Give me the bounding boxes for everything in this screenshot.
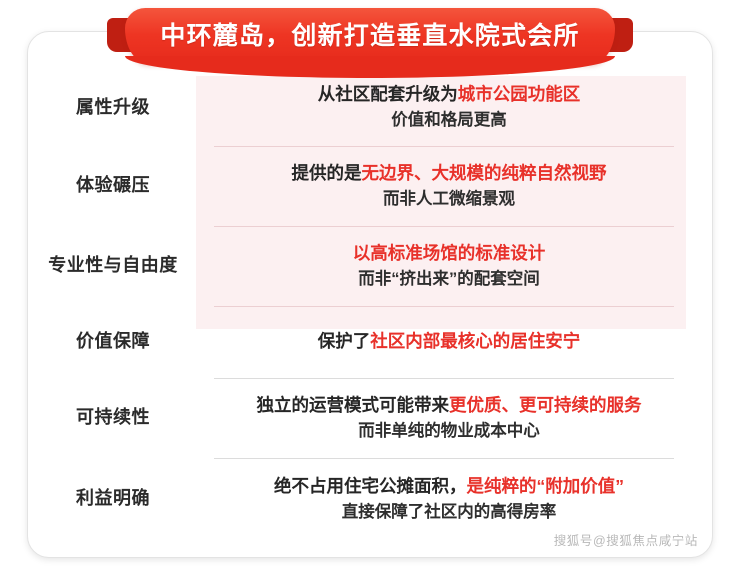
- line-text: 从社区配套升级为: [318, 84, 458, 104]
- row-content: 绝不占用住宅公摊面积，是纯粹的“附加价值”直接保障了社区内的高得房率: [199, 473, 711, 526]
- line-highlight: 更优质、更可持续的服务: [449, 395, 642, 415]
- line-text: 保护了: [318, 331, 371, 351]
- row-line-primary: 绝不占用住宅公摊面积，是纯粹的“附加价值”: [205, 473, 693, 500]
- poster-root: 属性升级从社区配套升级为城市公园功能区价值和格局更高体验碾压提供的是无边界、大规…: [0, 0, 740, 577]
- row-divider: [214, 378, 674, 379]
- line-highlight: 无边界、大规模的纯粹自然视野: [362, 163, 607, 183]
- ribbon-body: 中环麓岛，创新打造垂直水院式会所: [125, 8, 615, 64]
- content-card: 属性升级从社区配套升级为城市公园功能区价值和格局更高体验碾压提供的是无边界、大规…: [27, 31, 713, 558]
- comparison-table: 属性升级从社区配套升级为城市公园功能区价值和格局更高体验碾压提供的是无边界、大规…: [27, 31, 711, 556]
- row-line-secondary: 而非单纯的物业成本中心: [205, 419, 693, 445]
- table-row: 属性升级从社区配套升级为城市公园功能区价值和格局更高: [27, 69, 711, 146]
- row-content: 保护了社区内部最核心的居住安宁: [199, 328, 711, 355]
- table-row: 可持续性独立的运营模式可能带来更优质、更可持续的服务而非单纯的物业成本中心: [27, 378, 711, 458]
- row-divider: [214, 146, 674, 147]
- title-ribbon: 中环麓岛，创新打造垂直水院式会所: [0, 8, 740, 68]
- row-line-secondary: 而非“挤出来”的配套空间: [205, 267, 693, 293]
- row-line-secondary: 价值和格局更高: [205, 108, 693, 134]
- row-line-primary: 保护了社区内部最核心的居住安宁: [205, 328, 693, 355]
- watermark: 搜狐号@搜狐焦点咸宁站: [554, 530, 698, 549]
- row-line-secondary: 而非人工微缩景观: [205, 187, 693, 213]
- row-content: 提供的是无边界、大规模的纯粹自然视野而非人工微缩景观: [199, 160, 711, 213]
- row-content: 独立的运营模式可能带来更优质、更可持续的服务而非单纯的物业成本中心: [199, 392, 711, 445]
- line-text: 独立的运营模式可能带来: [257, 395, 450, 415]
- row-label: 价值保障: [27, 331, 199, 353]
- line-highlight: 以高标准场馆的标准设计: [353, 243, 546, 263]
- line-text: 提供的是: [292, 163, 362, 183]
- row-label: 体验碾压: [27, 175, 199, 197]
- row-line-primary: 从社区配套升级为城市公园功能区: [205, 81, 693, 108]
- table-row: 体验碾压提供的是无边界、大规模的纯粹自然视野而非人工微缩景观: [27, 146, 711, 226]
- row-content: 以高标准场馆的标准设计而非“挤出来”的配套空间: [199, 240, 711, 293]
- table-row: 价值保障保护了社区内部最核心的居住安宁: [27, 306, 711, 378]
- row-content: 从社区配套升级为城市公园功能区价值和格局更高: [199, 81, 711, 134]
- row-line-primary: 提供的是无边界、大规模的纯粹自然视野: [205, 160, 693, 187]
- line-highlight: 社区内部最核心的居住安宁: [370, 331, 580, 351]
- row-line-primary: 独立的运营模式可能带来更优质、更可持续的服务: [205, 392, 693, 419]
- row-label: 属性升级: [27, 97, 199, 119]
- line-text: 绝不占用住宅公摊面积，: [274, 476, 467, 496]
- row-line-primary: 以高标准场馆的标准设计: [205, 240, 693, 267]
- row-divider: [214, 458, 674, 459]
- row-label: 可持续性: [27, 407, 199, 429]
- line-highlight: 城市公园功能区: [458, 84, 581, 104]
- row-label: 利益明确: [27, 488, 199, 510]
- banner-title: 中环麓岛，创新打造垂直水院式会所: [160, 24, 579, 49]
- row-divider: [214, 226, 674, 227]
- table-row: 专业性与自由度以高标准场馆的标准设计而非“挤出来”的配套空间: [27, 226, 711, 306]
- row-label: 专业性与自由度: [27, 255, 199, 277]
- table-rows: 属性升级从社区配套升级为城市公园功能区价值和格局更高体验碾压提供的是无边界、大规…: [27, 69, 711, 540]
- table-row: 利益明确绝不占用住宅公摊面积，是纯粹的“附加价值”直接保障了社区内的高得房率: [27, 458, 711, 540]
- row-divider: [214, 306, 674, 307]
- row-line-secondary: 直接保障了社区内的高得房率: [205, 500, 693, 526]
- line-highlight: 是纯粹的“附加价值”: [467, 476, 625, 496]
